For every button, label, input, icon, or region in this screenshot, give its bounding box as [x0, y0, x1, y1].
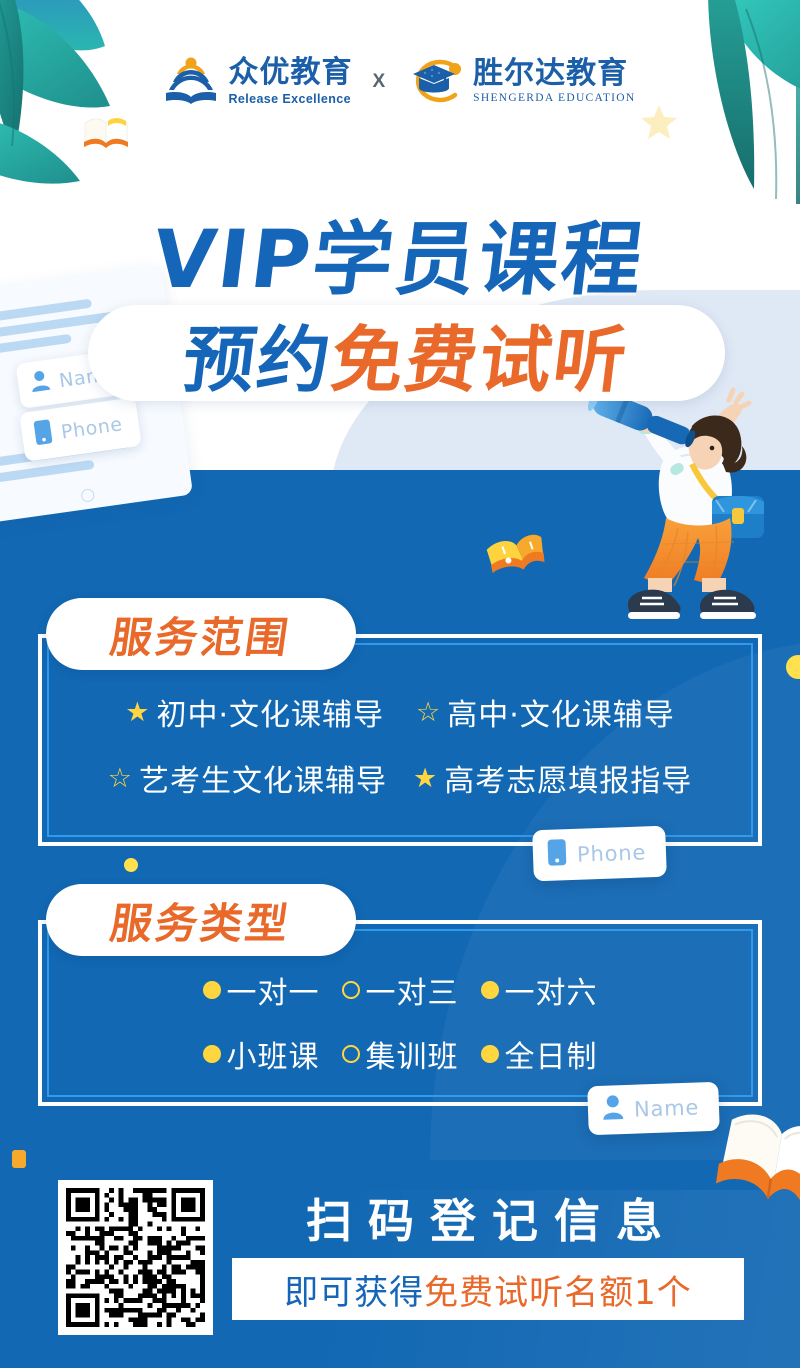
service-scope-item-3[interactable]: ★ 高考志愿填报指导	[413, 756, 692, 800]
poster-root: 众优教育 Release Excellence X	[0, 0, 800, 1368]
service-type-item-3-label: 小班课	[227, 1032, 320, 1076]
student-with-telescope-illustration	[566, 372, 786, 639]
dot-icon-hollow	[342, 981, 360, 999]
dot-icon-filled	[481, 981, 499, 999]
dot-decoration-left	[124, 858, 138, 872]
section-rows: ★ 初中·文化课辅导 ☆ 高中·文化课辅导 ☆ 艺考生文化课辅导 ★ 高考志愿填…	[38, 690, 762, 800]
star-icon-filled: ★	[413, 765, 438, 792]
section-row: 小班课 集训班 全日制	[203, 1032, 598, 1076]
service-type-item-2-label: 一对六	[505, 968, 598, 1012]
section-badge-label: 服务类型	[107, 890, 296, 951]
qr-code-block[interactable]	[58, 1180, 213, 1335]
section-row: ★ 初中·文化课辅导 ☆ 高中·文化课辅导	[125, 690, 675, 734]
open-book-radiating-arcs-icon	[164, 53, 218, 112]
logo-shengerda-name-cn: 胜尔达教育	[473, 58, 635, 90]
cta-subline-blue: 即可获得	[284, 1265, 424, 1314]
open-book-icon-top-left	[82, 113, 130, 154]
service-scope-item-0[interactable]: ★ 初中·文化课辅导	[125, 690, 384, 734]
service-scope-item-0-label: 初中·文化课辅导	[156, 690, 384, 734]
logo-zhongyou[interactable]: 众优教育 Release Excellence	[164, 53, 352, 112]
service-type-item-5-label: 全日制	[505, 1032, 598, 1076]
logo-separator: X	[370, 71, 387, 93]
service-type-item-4[interactable]: 集训班	[342, 1032, 459, 1076]
star-icon-hollow: ☆	[416, 699, 441, 726]
open-book-icon-middle	[484, 530, 546, 581]
logo-zhongyou-name-en: Release Excellence	[228, 91, 352, 107]
service-scope-item-2-label: 艺考生文化课辅导	[139, 756, 387, 800]
header-logos: 众优教育 Release Excellence X	[0, 48, 800, 116]
dot-icon-filled	[481, 1045, 499, 1063]
section-badge-service-scope: 服务范围	[46, 598, 356, 670]
phone-icon	[32, 418, 54, 451]
page-title-line1: VIP学员课程	[0, 195, 800, 311]
section-service-type: 服务类型 一对一 一对三 一对六 小班	[38, 920, 762, 1106]
page-title-line2: 预约 免费试听	[81, 300, 731, 406]
section-service-scope: 服务范围 ★ 初中·文化课辅导 ☆ 高中·文化课辅导 ☆ 艺考生文化课辅导	[38, 634, 762, 846]
service-type-item-1[interactable]: 一对三	[342, 968, 459, 1012]
service-type-item-3[interactable]: 小班课	[203, 1032, 320, 1076]
service-scope-item-1[interactable]: ☆ 高中·文化课辅导	[416, 690, 675, 734]
graduation-cap-icon	[405, 53, 463, 112]
service-type-item-5[interactable]: 全日制	[481, 1032, 598, 1076]
service-type-item-0[interactable]: 一对一	[203, 968, 320, 1012]
service-type-item-4-label: 集训班	[366, 1032, 459, 1076]
cta-subline-orange: 免费试听名额1个	[424, 1265, 692, 1314]
dot-icon-filled	[203, 981, 221, 999]
form-field-phone-label: Phone	[60, 413, 124, 443]
dot-icon-filled	[203, 1045, 221, 1063]
service-type-item-1-label: 一对三	[366, 968, 459, 1012]
service-scope-item-2[interactable]: ☆ 艺考生文化课辅导	[108, 756, 387, 800]
star-icon-filled: ★	[125, 699, 150, 726]
phone-icon	[546, 838, 567, 872]
logo-zhongyou-name-cn: 众优教育	[228, 57, 352, 89]
section-rows: 一对一 一对三 一对六 小班课 集训班	[38, 968, 762, 1076]
cta-headline: 扫码登记信息	[232, 1185, 752, 1251]
cta-subline: 即可获得 免费试听名额1个	[232, 1258, 744, 1320]
person-icon	[601, 1094, 624, 1126]
service-type-item-0-label: 一对一	[227, 968, 320, 1012]
person-icon	[29, 369, 53, 399]
qr-code-image	[66, 1188, 205, 1327]
section-badge-service-type: 服务类型	[46, 884, 356, 956]
floating-chip-phone-label: Phone	[577, 840, 647, 866]
section-row: 一对一 一对三 一对六	[203, 968, 598, 1012]
section-row: ☆ 艺考生文化课辅导 ★ 高考志愿填报指导	[108, 756, 692, 800]
section-badge-label: 服务范围	[107, 604, 296, 665]
service-scope-item-1-label: 高中·文化课辅导	[447, 690, 675, 734]
dot-icon-hollow	[342, 1045, 360, 1063]
floating-chip-phone[interactable]: Phone	[532, 826, 667, 882]
logo-shengerda[interactable]: 胜尔达教育 SHENGERDA EDUCATION	[405, 53, 635, 112]
page-title-line2-orange: 免费试听	[326, 301, 635, 406]
star-icon-hollow: ☆	[108, 765, 133, 792]
dot-decoration-bottom-left	[12, 1150, 26, 1168]
logo-shengerda-name-en: SHENGERDA EDUCATION	[473, 91, 635, 106]
floating-chip-name-label: Name	[634, 1095, 700, 1121]
service-type-item-2[interactable]: 一对六	[481, 968, 598, 1012]
service-scope-item-3-label: 高考志愿填报指导	[444, 756, 692, 800]
floating-chip-name[interactable]: Name	[587, 1082, 720, 1136]
page-title-line2-blue: 预约	[178, 301, 339, 406]
